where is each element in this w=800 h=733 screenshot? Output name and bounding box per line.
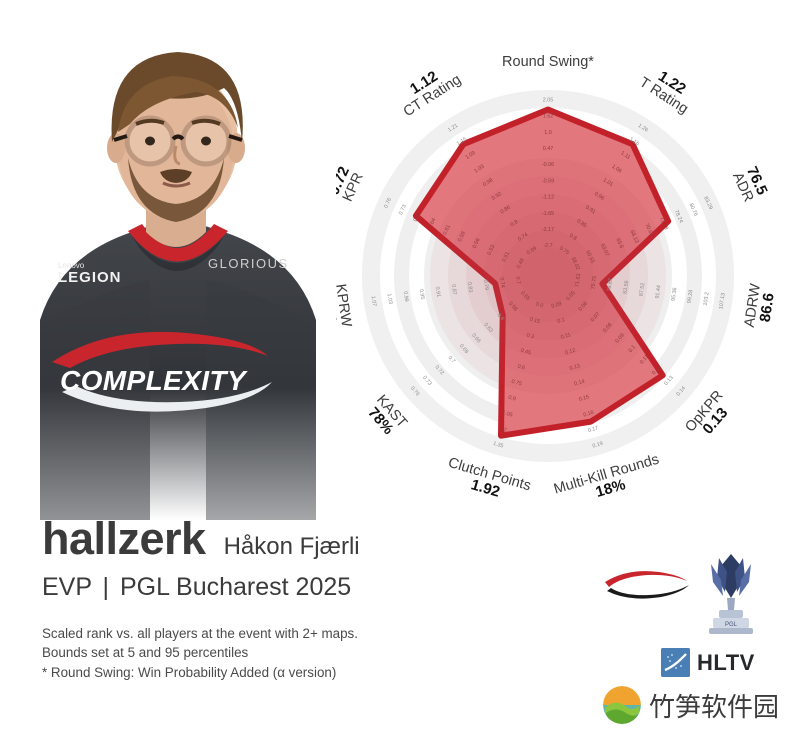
axis-label-kast: 78%KAST xyxy=(362,392,410,441)
radar-chart-svg: 2.051.521.00.47-0.06-0.59-1.12-1.65-2.17… xyxy=(336,52,800,522)
svg-text:-1.12: -1.12 xyxy=(542,195,554,201)
axis-label-clutch-points: 1.92Clutch Points xyxy=(442,455,533,509)
axis-label-adr: 76.5ADR xyxy=(729,163,771,204)
footnote-3: * Round Swing: Win Probability Added (α … xyxy=(42,663,582,682)
svg-text:2.05: 2.05 xyxy=(543,97,554,103)
axis-label-adrw: 86.6ADRW xyxy=(742,282,779,330)
svg-text:0.7: 0.7 xyxy=(514,276,521,284)
complexity-logo xyxy=(601,566,693,602)
sponsor-glorious: GLORIOUS xyxy=(208,256,289,271)
axis-label-kpr: 0.72KPR xyxy=(336,164,367,204)
hltv-logo: HLTV xyxy=(661,648,755,677)
footnote-1: Scaled rank vs. all players at the event… xyxy=(42,624,582,643)
player-info: hallzerk Håkon Fjærli EVP | PGL Buchares… xyxy=(42,516,582,682)
trophy-icon: PGL xyxy=(701,550,761,636)
radar-inner-rings xyxy=(430,158,666,394)
player-name-line: hallzerk Håkon Fjærli xyxy=(42,516,582,561)
svg-text:-0.06: -0.06 xyxy=(542,162,554,168)
svg-text:0.47: 0.47 xyxy=(543,146,554,152)
axis-label-t-rating: 1.22T Rating xyxy=(636,61,699,117)
player-stat-card: Lenovo LEGION GLORIOUS COMPLEXITY xyxy=(0,0,800,733)
svg-text:1.52: 1.52 xyxy=(543,114,554,120)
player-photo-illustration: Lenovo LEGION GLORIOUS COMPLEXITY xyxy=(0,0,352,520)
axis-label-round-swing: +1.37Round Swing* xyxy=(502,52,594,70)
svg-text:COMPLEXITY: COMPLEXITY xyxy=(60,365,248,396)
svg-text:-0.59: -0.59 xyxy=(542,178,554,184)
svg-text:1.0: 1.0 xyxy=(544,130,552,136)
bamboo-circle-icon xyxy=(603,686,641,724)
footnotes: Scaled rank vs. all players at the event… xyxy=(42,624,582,682)
event-name: PGL Bucharest 2025 xyxy=(120,573,351,601)
svg-text:LEGION: LEGION xyxy=(58,269,122,286)
site-watermark: 竹笋软件园 xyxy=(603,686,779,724)
svg-text:KPRW: KPRW xyxy=(336,283,354,328)
watermark-label: 竹笋软件园 xyxy=(649,687,779,724)
placement-badge: EVP xyxy=(42,573,92,601)
player-photo: Lenovo LEGION GLORIOUS COMPLEXITY xyxy=(0,0,352,520)
axis-label-ct-rating: 1.12CT Rating xyxy=(392,58,464,120)
svg-text:-2.17: -2.17 xyxy=(542,227,554,233)
radar-chart: 2.051.521.00.47-0.06-0.59-1.12-1.65-2.17… xyxy=(336,52,800,522)
hltv-comet-icon xyxy=(661,648,690,677)
player-nickname: hallzerk xyxy=(42,516,206,561)
axis-label-opkpr: 0.13OpKPR xyxy=(682,388,738,445)
placement-event-line: EVP | PGL Bucharest 2025 xyxy=(42,573,582,602)
svg-text:PGL: PGL xyxy=(725,622,738,628)
player-real-name: Håkon Fjærli xyxy=(224,535,360,559)
footnote-2: Bounds set at 5 and 95 percentiles xyxy=(42,643,582,662)
svg-text:-2.7: -2.7 xyxy=(543,243,552,249)
logo-area: PGL HLTV xyxy=(585,548,800,733)
svg-text:Round Swing*: Round Swing* xyxy=(502,54,594,70)
svg-text:-1.65: -1.65 xyxy=(542,211,554,217)
axis-label-kprw: 0.84KPRW xyxy=(336,283,354,331)
separator: | xyxy=(99,573,114,601)
hltv-label: HLTV xyxy=(697,650,755,676)
